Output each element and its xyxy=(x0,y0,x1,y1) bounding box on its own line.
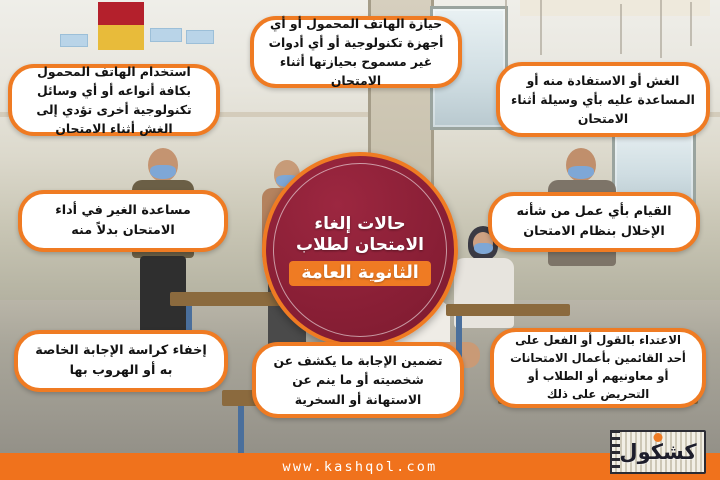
center-hub: حالات إلغاء الامتحان لطلاب الثانوية العا… xyxy=(262,152,458,348)
hanging-string xyxy=(540,0,542,55)
wall-note xyxy=(150,28,182,42)
wall-note xyxy=(186,30,214,44)
wall-note xyxy=(60,34,88,47)
info-box-bottom-left: إخفاء كراسة الإجابة الخاصة به أو الهروب … xyxy=(14,330,228,392)
hanging-string xyxy=(505,0,507,40)
info-box-text: إخفاء كراسة الإجابة الخاصة به أو الهروب … xyxy=(28,341,214,381)
info-box-text: مساعدة الغير في أداء الامتحان بدلاً منه xyxy=(32,201,214,241)
info-box-text: تضمين الإجابة ما يكشف عن شخصيته أو ما ين… xyxy=(266,351,450,409)
brand-name: كشكول xyxy=(619,440,696,464)
info-box-text: الاعتداء بالقول أو الفعل على أحد القائمي… xyxy=(504,332,692,404)
hanging-string xyxy=(620,4,622,54)
info-box-bottom-center: تضمين الإجابة ما يكشف عن شخصيته أو ما ين… xyxy=(252,342,464,418)
wall-poster xyxy=(98,2,144,50)
website-url[interactable]: www.kashqol.com xyxy=(283,459,438,475)
hanging-string xyxy=(690,2,692,46)
hub-title-line-2: الامتحان لطلاب xyxy=(296,235,424,256)
info-box-top-left: استخدام الهاتف المحمول بكافة أنواعه أو أ… xyxy=(8,64,220,136)
info-box-text: الغش أو الاستفادة منه أو المساعدة عليه ب… xyxy=(510,71,696,129)
info-box-text: القيام بأي عمل من شأنه الإخلال بنظام الا… xyxy=(502,202,686,242)
hub-banner: الثانوية العامة xyxy=(289,261,431,286)
info-box-middle-right: القيام بأي عمل من شأنه الإخلال بنظام الا… xyxy=(488,192,700,252)
desk xyxy=(446,304,570,316)
info-box-bottom-right: الاعتداء بالقول أو الفعل على أحد القائمي… xyxy=(490,328,706,408)
info-box-top-right: الغش أو الاستفادة منه أو المساعدة عليه ب… xyxy=(496,62,710,137)
info-box-text: استخدام الهاتف المحمول بكافة أنواعه أو أ… xyxy=(22,62,206,139)
info-box-text: حيازة الهاتف المحمول أو أي أجهزة تكنولوج… xyxy=(264,14,448,91)
info-box-top-center: حيازة الهاتف المحمول أو أي أجهزة تكنولوج… xyxy=(250,16,462,88)
wall-board xyxy=(520,0,710,16)
info-box-middle-left: مساعدة الغير في أداء الامتحان بدلاً منه xyxy=(18,190,228,252)
hanging-string xyxy=(660,0,662,58)
hub-title-line-1: حالات إلغاء xyxy=(314,214,405,235)
infographic-canvas: حالات إلغاء الامتحان لطلاب الثانوية العا… xyxy=(0,0,720,480)
kashqol-logo[interactable]: كشكول xyxy=(610,430,706,474)
